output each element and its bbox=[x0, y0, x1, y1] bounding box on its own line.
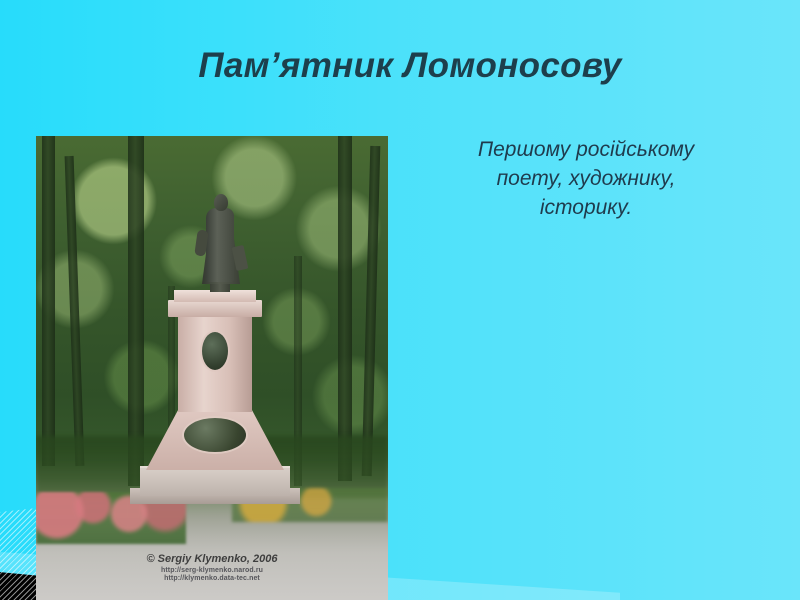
slide-canvas: Пам’ятник Ломоносову bbox=[0, 0, 800, 600]
bronze-plaque-large bbox=[184, 418, 246, 452]
body-line-2: поету, художнику, bbox=[414, 165, 758, 194]
monument-group bbox=[36, 136, 388, 600]
slide-body-text: Першому російському поету, художнику, іс… bbox=[414, 136, 758, 223]
slide-title: Пам’ятник Ломоносову bbox=[60, 46, 760, 86]
statue-head bbox=[214, 194, 228, 211]
body-line-1: Першому російському bbox=[414, 136, 758, 165]
body-line-3: історику. bbox=[414, 194, 758, 223]
bronze-plaque-small bbox=[202, 332, 228, 370]
monument-photo: © Sergiy Klymenko, 2006 http://serg-klym… bbox=[36, 136, 388, 600]
pedestal-cornice bbox=[168, 300, 262, 317]
statue-torso bbox=[206, 208, 234, 282]
pedestal-base bbox=[140, 466, 290, 496]
